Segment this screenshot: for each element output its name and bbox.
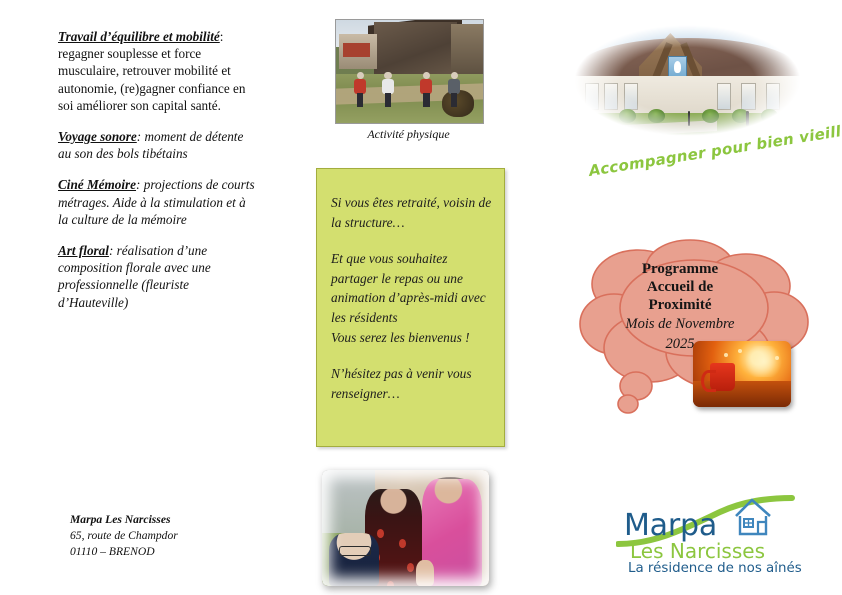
invitation-paragraph: Si vous êtes retraité, voisin de la stru…	[331, 193, 494, 232]
activity-heading: Voyage sonore	[58, 129, 137, 144]
invitation-paragraph: Et que vous souhaitez partager le repas …	[331, 249, 494, 347]
brochure-page: Travail d’équilibre et mobilité: regagne…	[0, 0, 842, 595]
activity-heading: Ciné Mémoire	[58, 177, 136, 192]
cloud-text-block: Programme Accueil de Proximité Mois de N…	[600, 260, 760, 354]
address-name: Marpa Les Narcisses	[70, 512, 280, 528]
residents-photo	[322, 470, 489, 586]
cloud-title-line: Proximité	[600, 296, 760, 314]
cloud-subtitle-line: Mois de Novembre	[600, 314, 760, 334]
address-block: Marpa Les Narcisses 65, route de Champdo…	[70, 512, 280, 560]
activity-item: Art floral: réalisation d’une compositio…	[58, 242, 258, 311]
activite-physique-photo	[335, 19, 484, 124]
activity-item: Voyage sonore: moment de détente au son …	[58, 128, 258, 162]
activity-item: Ciné Mémoire: projections de courts métr…	[58, 176, 258, 228]
logo-subtitle: La résidence de nos aînés	[628, 561, 802, 576]
invitation-paragraph: N’hésitez pas à venir vous renseigner…	[331, 364, 494, 403]
address-street: 65, route de Champdor	[70, 528, 280, 544]
photo-caption: Activité physique	[335, 127, 482, 142]
invitation-box: Si vous êtes retraité, voisin de la stru…	[316, 168, 505, 447]
activities-list: Travail d’équilibre et mobilité: regagne…	[58, 28, 258, 325]
marpa-logo: Marpa Les Narcisses La résidence de nos …	[616, 482, 806, 574]
activity-heading: Travail d’équilibre et mobilité	[58, 29, 220, 44]
logo-residence: Les Narcisses	[630, 539, 765, 563]
cloud-title-line: Accueil de	[600, 278, 760, 296]
activity-item: Travail d’équilibre et mobilité: regagne…	[58, 28, 258, 114]
batiment-marpa-photo	[565, 18, 810, 143]
logo-brand: Marpa	[624, 508, 717, 543]
address-city: 01110 – BRENOD	[70, 544, 280, 560]
tasse-automne-photo	[693, 341, 791, 407]
activity-heading: Art floral	[58, 243, 109, 258]
cloud-title-line: Programme	[600, 260, 760, 278]
